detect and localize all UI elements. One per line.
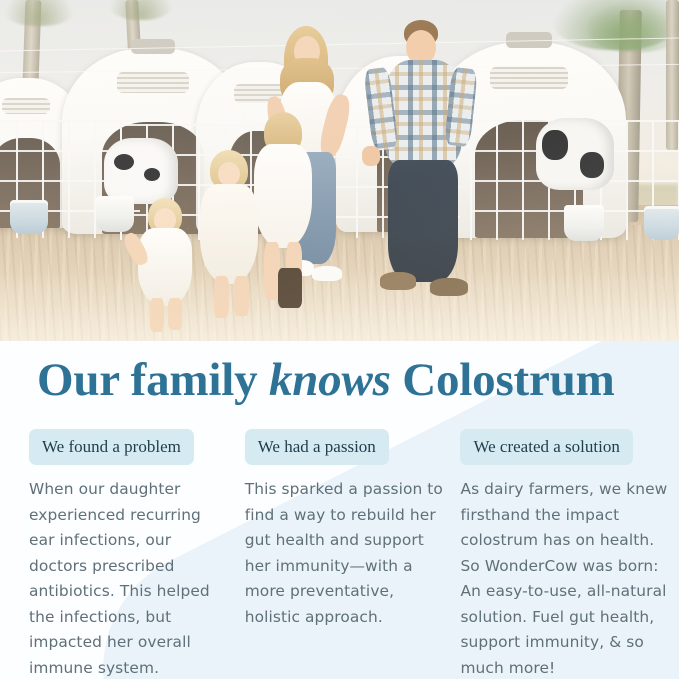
story-column-solution: We created a solution As dairy farmers, … <box>460 429 669 679</box>
dress <box>254 144 312 248</box>
calf-spot <box>580 152 604 178</box>
person-girl-small <box>134 198 196 334</box>
feed-bucket <box>644 206 679 240</box>
hutch-cap <box>131 39 175 54</box>
hutch-vent <box>2 98 50 115</box>
badge-we-found-a-problem: We found a problem <box>29 429 194 465</box>
calf-spot <box>144 168 160 181</box>
leg <box>214 276 229 318</box>
badge-we-had-a-passion: We had a passion <box>245 429 389 465</box>
calf-spot <box>542 130 568 160</box>
page-title: Our family knows Colostrum <box>37 356 615 405</box>
boot <box>380 272 416 290</box>
page-title-emphasis: knows <box>269 354 391 406</box>
person-girl-middle <box>196 150 262 320</box>
hand <box>362 146 380 166</box>
badge-we-created-a-solution: We created a solution <box>460 429 632 465</box>
story-body-problem: When our daughter experienced recurring … <box>29 477 229 679</box>
calf-spot <box>114 154 134 170</box>
holstein-calf <box>104 138 178 204</box>
story-column-passion: We had a passion This sparked a passion … <box>245 429 445 679</box>
boot <box>278 268 302 308</box>
person-father <box>372 6 480 314</box>
leg <box>234 276 249 316</box>
feed-bucket <box>96 196 134 232</box>
feed-bucket <box>564 205 604 241</box>
story-body-passion: This sparked a passion to find a way to … <box>245 477 445 630</box>
hutch-vent <box>117 72 190 92</box>
story-content: Our family knows Colostrum We found a pr… <box>0 341 679 679</box>
leg <box>168 298 182 330</box>
story-columns: We found a problem When our daughter exp… <box>29 429 669 679</box>
hero-photo <box>0 0 679 341</box>
boot <box>430 278 468 296</box>
story-column-problem: We found a problem When our daughter exp… <box>29 429 229 679</box>
feed-bucket <box>10 200 48 234</box>
story-body-solution: As dairy farmers, we knew firsthand the … <box>460 477 669 679</box>
dress <box>200 184 258 284</box>
leg <box>150 298 164 332</box>
hutch-vent <box>490 67 568 89</box>
product-story-panel: Our family knows Colostrum We found a pr… <box>0 0 679 679</box>
holstein-calf <box>536 118 614 190</box>
page-title-part2: Colostrum <box>391 354 615 406</box>
jeans <box>388 160 458 282</box>
page-title-part1: Our family <box>37 354 269 406</box>
dress <box>138 228 192 306</box>
head <box>218 162 240 186</box>
